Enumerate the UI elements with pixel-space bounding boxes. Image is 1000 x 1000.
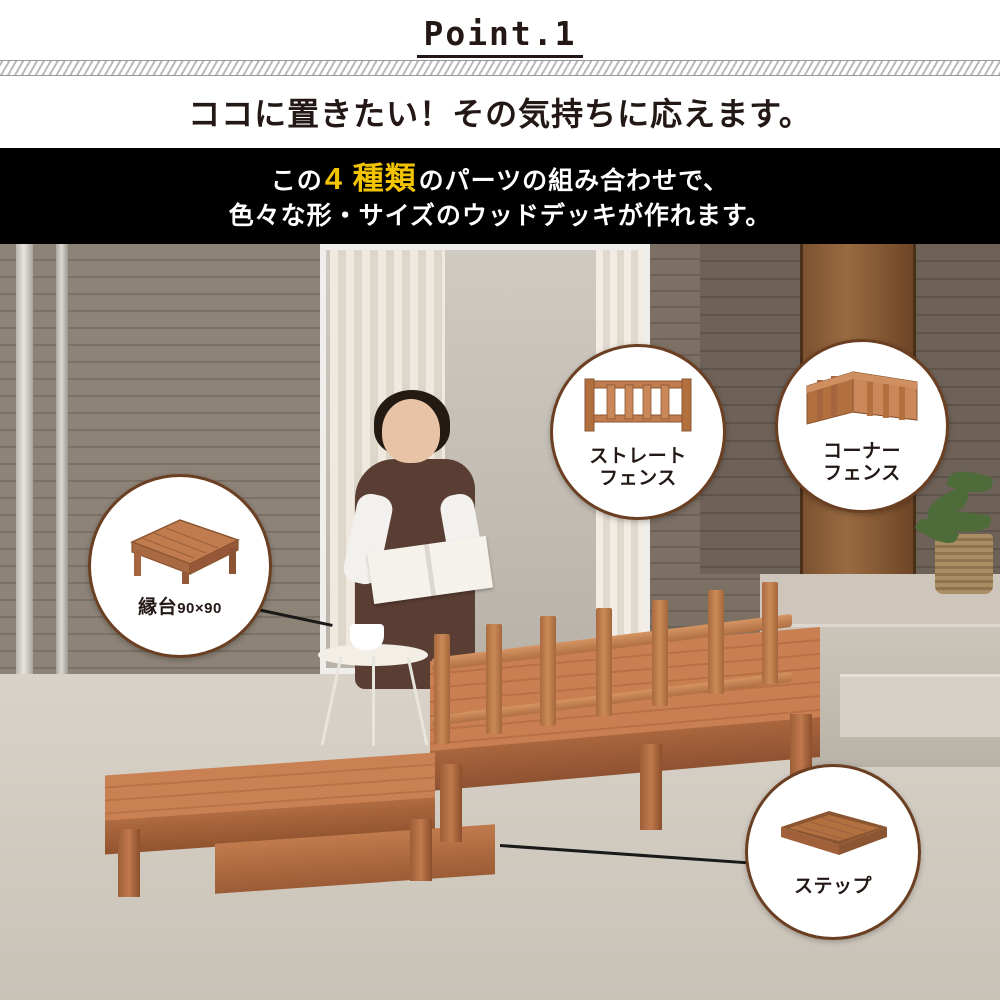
point-title-text: Point.1 [417, 14, 582, 58]
page-root: Point.1 ココに置きたい！その気持ちに応えます。 この4 種類のパーツの組… [0, 0, 1000, 1000]
callout-straight-fence-label: ストレート フェンス [589, 446, 687, 490]
point-header: Point.1 [0, 0, 1000, 68]
callout-corner-fence-label: コーナー フェンス [823, 441, 901, 485]
black-message-band: この4 種類のパーツの組み合わせで、 色々な形・サイズのウッドデッキが作れます。 [0, 148, 1000, 244]
step-platform-icon [771, 807, 895, 870]
callout-corner-fence-label-line2: フェンス [823, 463, 901, 485]
callout-engawa-label-size: 90×90 [177, 600, 222, 617]
drain-pipe-secondary [56, 244, 68, 674]
deck-leg [440, 764, 462, 842]
callout-straight-fence[interactable]: ストレート フェンス [550, 344, 726, 520]
callout-step-label: ステップ [794, 876, 872, 898]
band-line-2: 色々な形・サイズのウッドデッキが作れます。 [229, 200, 772, 234]
band-highlight: 4 種類 [323, 161, 419, 196]
callout-straight-fence-label-line1: ストレート [589, 446, 687, 468]
drain-pipe [16, 244, 33, 714]
railing-post [596, 608, 612, 716]
callout-step[interactable]: ステップ [745, 764, 921, 940]
band-line-1: この4 種類のパーツの組み合わせで、 [271, 158, 729, 200]
person-face [382, 399, 440, 463]
corner-fence-icon [801, 368, 923, 435]
deck-leg [640, 744, 662, 830]
side-table-leg [372, 656, 375, 746]
callout-step-label-line1: ステップ [794, 876, 872, 898]
band-line1-pre: この [271, 167, 323, 195]
callout-corner-fence-label-line1: コーナー [823, 441, 901, 463]
callout-engawa-label: 縁台90×90 [138, 597, 222, 619]
stone-step-lower [840, 674, 1000, 737]
railing-post [708, 590, 724, 694]
railing-post [762, 582, 778, 684]
railing-post [540, 616, 556, 726]
railing-post [652, 600, 668, 706]
callout-straight-fence-label-line2: フェンス [589, 468, 687, 490]
band-line1-post: のパーツの組み合わせで、 [419, 167, 730, 195]
wood-bench-icon [114, 514, 246, 591]
sub-headline: ココに置きたい！その気持ちに応えます。 [0, 76, 1000, 148]
railing-post [486, 624, 502, 734]
callout-engawa-label-main: 縁台 [138, 597, 177, 618]
point-title: Point.1 [0, 14, 1000, 53]
deck-leg [410, 819, 432, 881]
coffee-cup [350, 624, 384, 650]
callout-engawa[interactable]: 縁台90×90 [88, 474, 272, 658]
railing-post [434, 634, 450, 744]
hatched-divider [0, 60, 1000, 76]
callout-corner-fence[interactable]: コーナー フェンス [775, 339, 949, 513]
product-photo: 縁台90×90 ストレート フェンス [0, 244, 1000, 1000]
deck-leg [118, 829, 140, 897]
straight-fence-icon [579, 375, 697, 440]
